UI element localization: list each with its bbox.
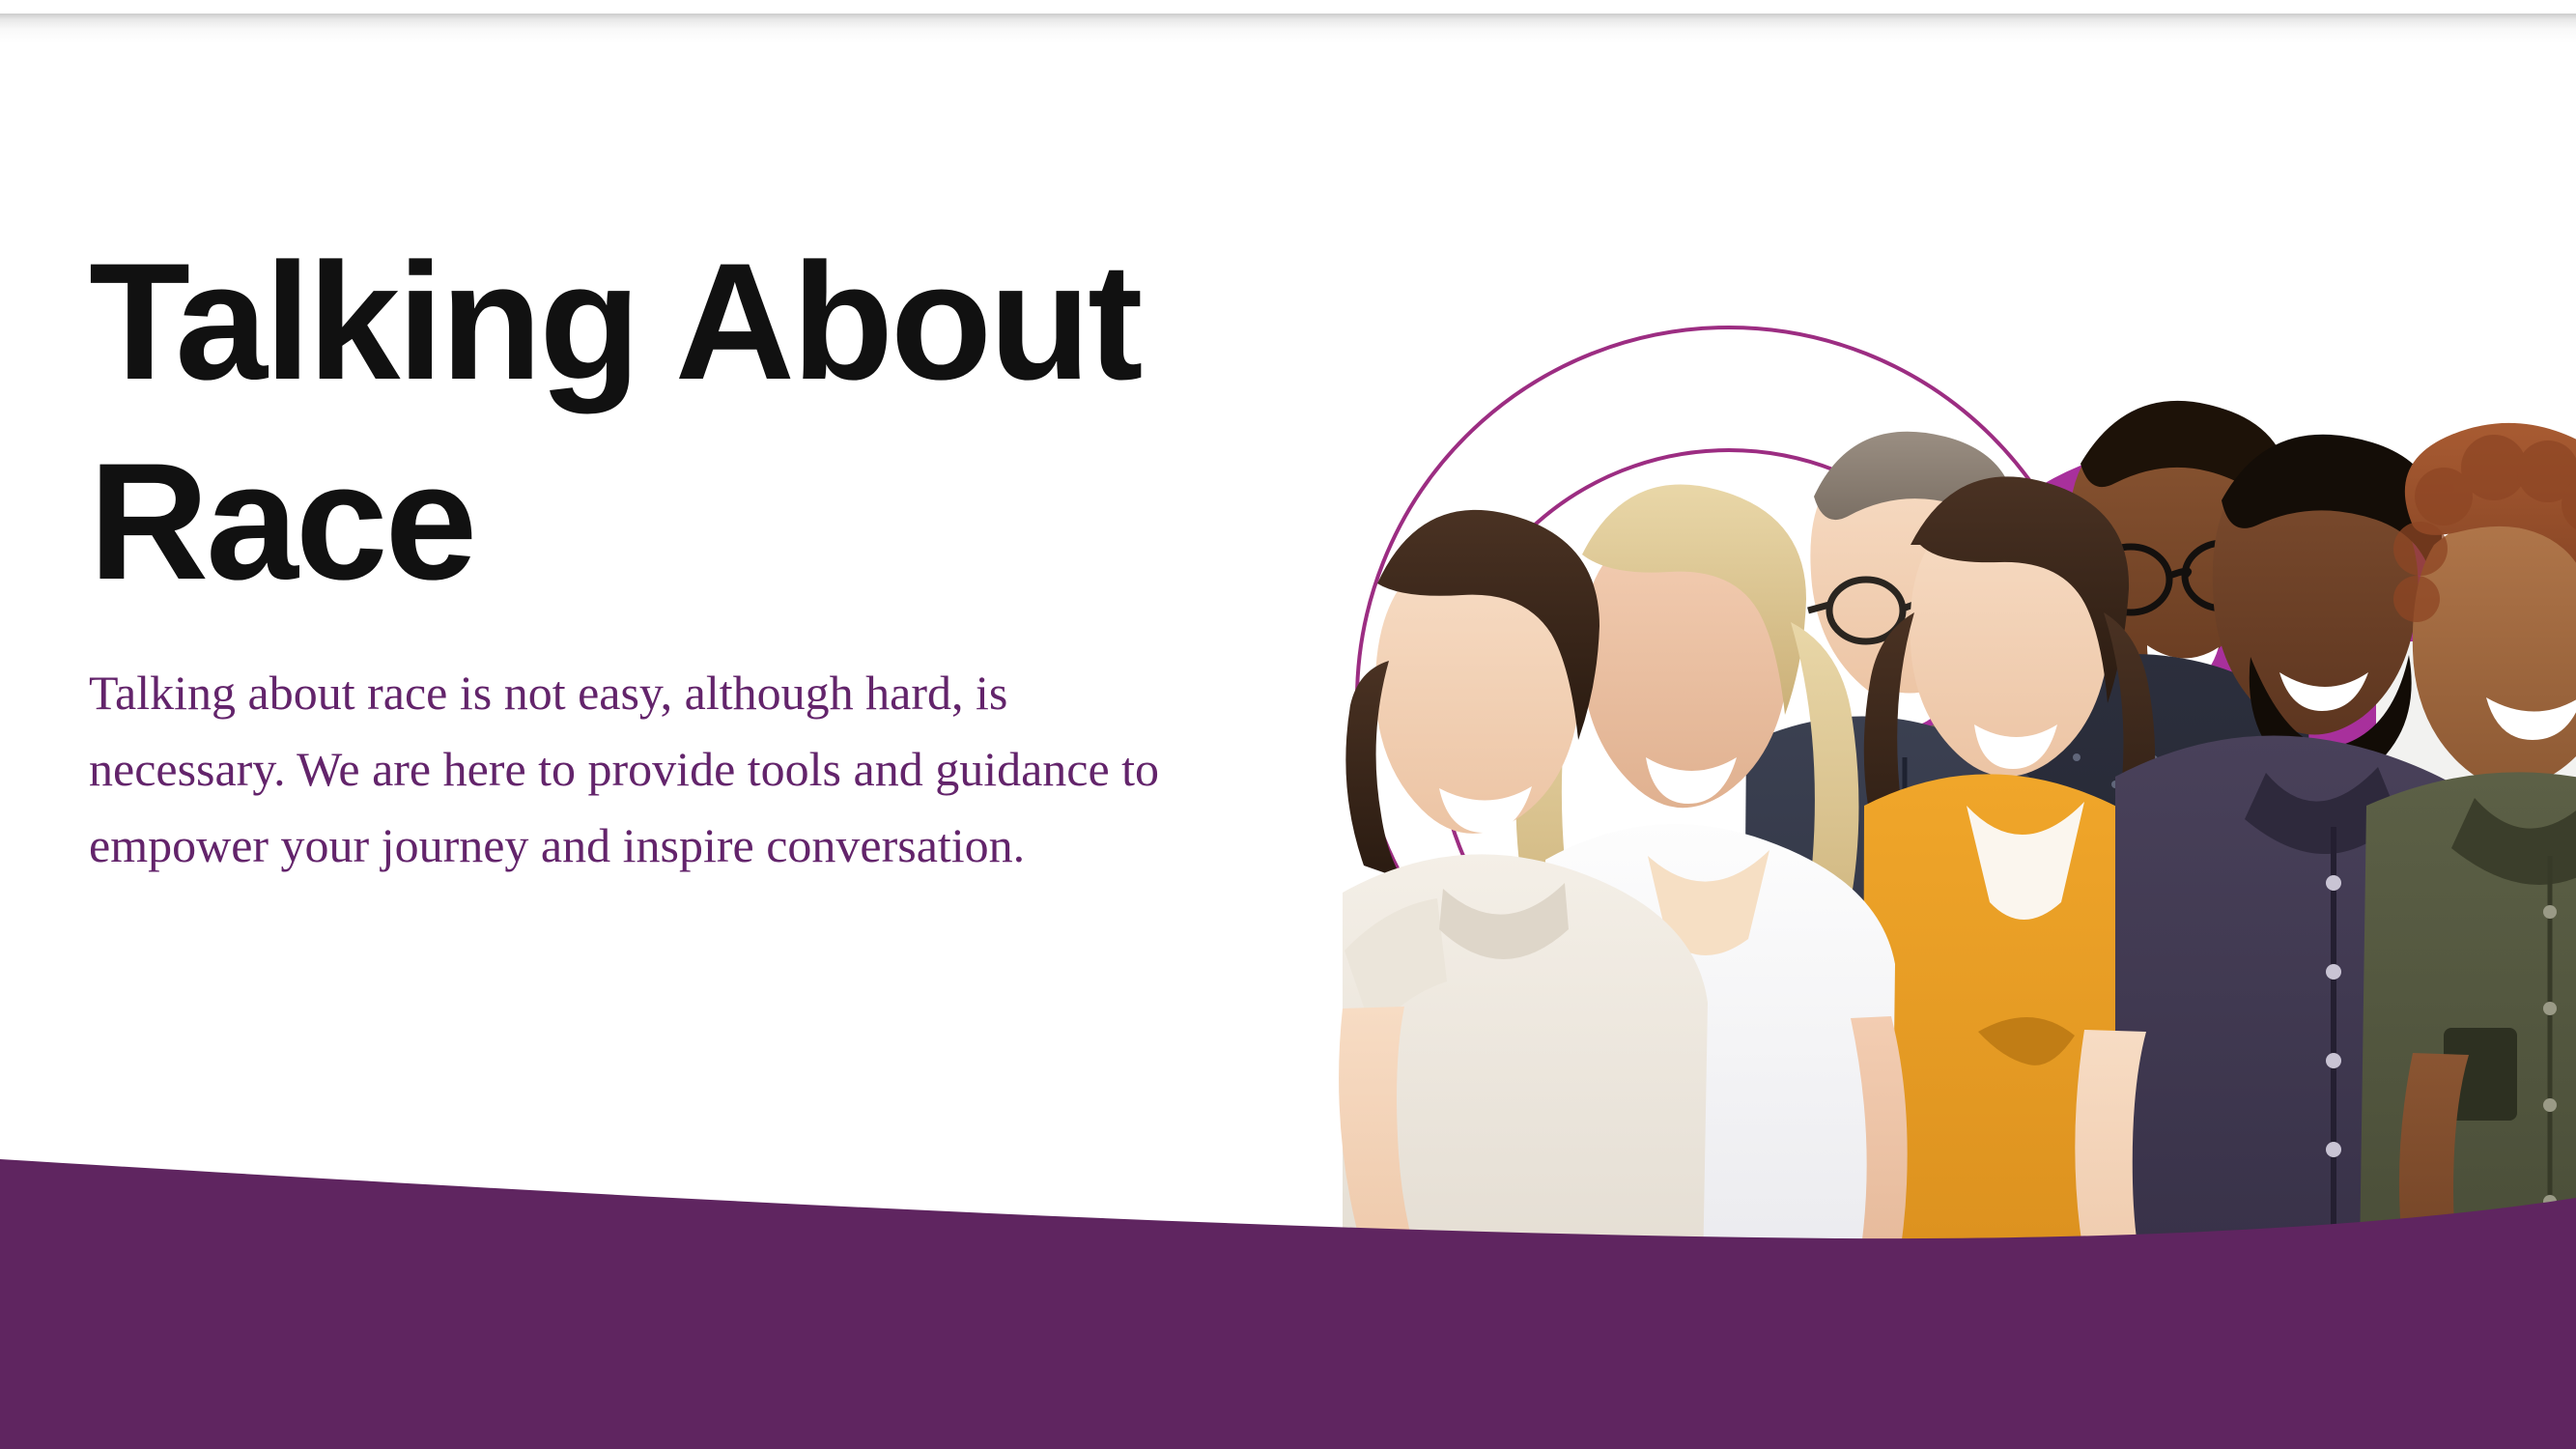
hero-copy-block: Talking About Race Talking about race is… <box>89 222 1277 884</box>
hero-artwork <box>1285 43 2576 1449</box>
header-bottom-shadow <box>0 14 2576 43</box>
header-white-strip <box>0 0 2576 14</box>
page-title: Talking About Race <box>89 222 1248 622</box>
hero-subtitle: Talking about race is not easy, although… <box>89 655 1204 884</box>
wrist-watch <box>1841 1304 1895 1349</box>
hero-page: Talking About Race Talking about race is… <box>0 0 2576 1449</box>
